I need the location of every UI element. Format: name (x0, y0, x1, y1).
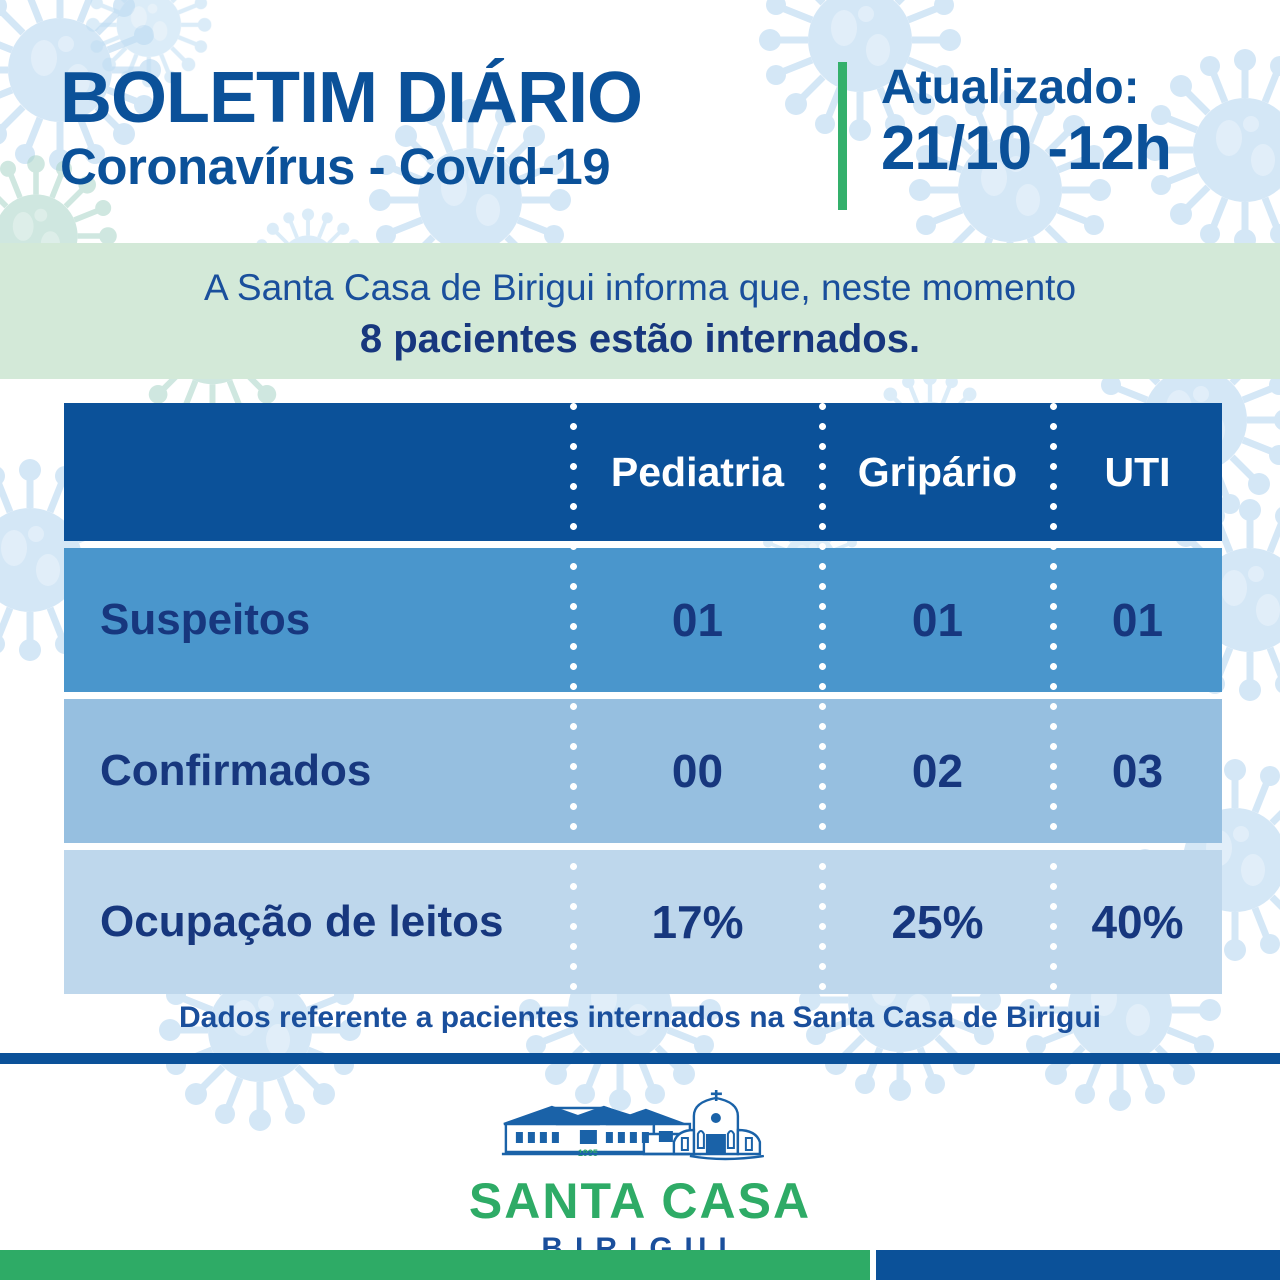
cell-confirmados-uti: 03 (1053, 748, 1222, 794)
footer: 1935 (0, 1064, 1280, 1250)
section-divider (0, 1053, 1280, 1064)
footnote-text: Dados referente a pacientes internados n… (179, 1001, 1101, 1034)
logo: 1935 (469, 1090, 811, 1264)
value-suspeitos-gripario: 01 (912, 594, 963, 646)
cell-confirmados-gripario: 02 (822, 748, 1053, 794)
santa-casa-building-icon: 1935 (494, 1090, 786, 1174)
table-row: Ocupação de leitos 17% 25% 40% (64, 850, 1222, 994)
update-date: 21/10 -12h (881, 116, 1171, 181)
column-divider-1 (570, 403, 577, 994)
value-confirmados-uti: 03 (1112, 745, 1163, 797)
row-label-cell: Ocupação de leitos (64, 900, 573, 944)
bottom-bar-green (0, 1250, 870, 1280)
table-row: Suspeitos 01 01 01 (64, 548, 1222, 692)
title-block: BOLETIM DIÁRIO Coronavírus - Covid-19 (60, 62, 830, 194)
banner-line-2: 8 pacientes estão internados. (0, 313, 1280, 365)
cell-confirmados-pediatria: 00 (573, 748, 822, 794)
value-suspeitos-pediatria: 01 (672, 594, 723, 646)
page-subtitle: Coronavírus - Covid-19 (60, 140, 830, 194)
cell-suspeitos-uti: 01 (1053, 597, 1222, 643)
row-label-confirmados: Confirmados (100, 746, 371, 795)
header-divider (838, 62, 847, 210)
bottom-bar-blue (876, 1250, 1280, 1280)
logo-name: SANTA CASA (469, 1176, 811, 1226)
banner-line-1: A Santa Casa de Birigui informa que, nes… (0, 265, 1280, 311)
column-divider-3 (1050, 403, 1057, 994)
footnote: Dados referente a pacientes internados n… (0, 1001, 1280, 1035)
column-divider-2 (819, 403, 826, 994)
row-label-suspeitos: Suspeitos (100, 595, 310, 644)
value-ocupacao-uti: 40% (1091, 896, 1183, 948)
table-header-row: Pediatria Gripário UTI (64, 403, 1222, 541)
cell-suspeitos-gripario: 01 (822, 597, 1053, 643)
page-title: BOLETIM DIÁRIO (60, 62, 830, 134)
row-label-cell: Confirmados (64, 749, 573, 793)
cell-ocupacao-uti: 40% (1053, 899, 1222, 945)
bottom-bars (0, 1250, 1280, 1280)
cell-ocupacao-pediatria: 17% (573, 899, 822, 945)
value-confirmados-gripario: 02 (912, 745, 963, 797)
value-suspeitos-uti: 01 (1112, 594, 1163, 646)
table-row: Confirmados 00 02 03 (64, 699, 1222, 843)
update-label: Atualizado: (881, 64, 1171, 112)
value-confirmados-pediatria: 00 (672, 745, 723, 797)
occupancy-table: Pediatria Gripário UTI Suspeitos 01 01 0… (64, 403, 1222, 994)
header-cell-uti: UTI (1053, 452, 1222, 493)
update-block: Atualizado: 21/10 -12h (881, 62, 1171, 181)
header-text-uti: UTI (1104, 449, 1170, 495)
cell-ocupacao-gripario: 25% (822, 899, 1053, 945)
status-banner: A Santa Casa de Birigui informa que, nes… (0, 243, 1280, 379)
boletim-page: BOLETIM DIÁRIO Coronavírus - Covid-19 At… (0, 0, 1280, 1280)
header-text-gripario: Gripário (858, 449, 1017, 495)
header-text-pediatria: Pediatria (611, 449, 784, 495)
value-ocupacao-pediatria: 17% (651, 896, 743, 948)
header: BOLETIM DIÁRIO Coronavírus - Covid-19 At… (0, 0, 1280, 243)
value-ocupacao-gripario: 25% (891, 896, 983, 948)
row-label-ocupacao: Ocupação de leitos (100, 897, 503, 946)
header-cell-pediatria: Pediatria (573, 452, 822, 493)
header-cell-gripario: Gripário (822, 452, 1053, 493)
row-label-cell: Suspeitos (64, 598, 573, 642)
cell-suspeitos-pediatria: 01 (573, 597, 822, 643)
